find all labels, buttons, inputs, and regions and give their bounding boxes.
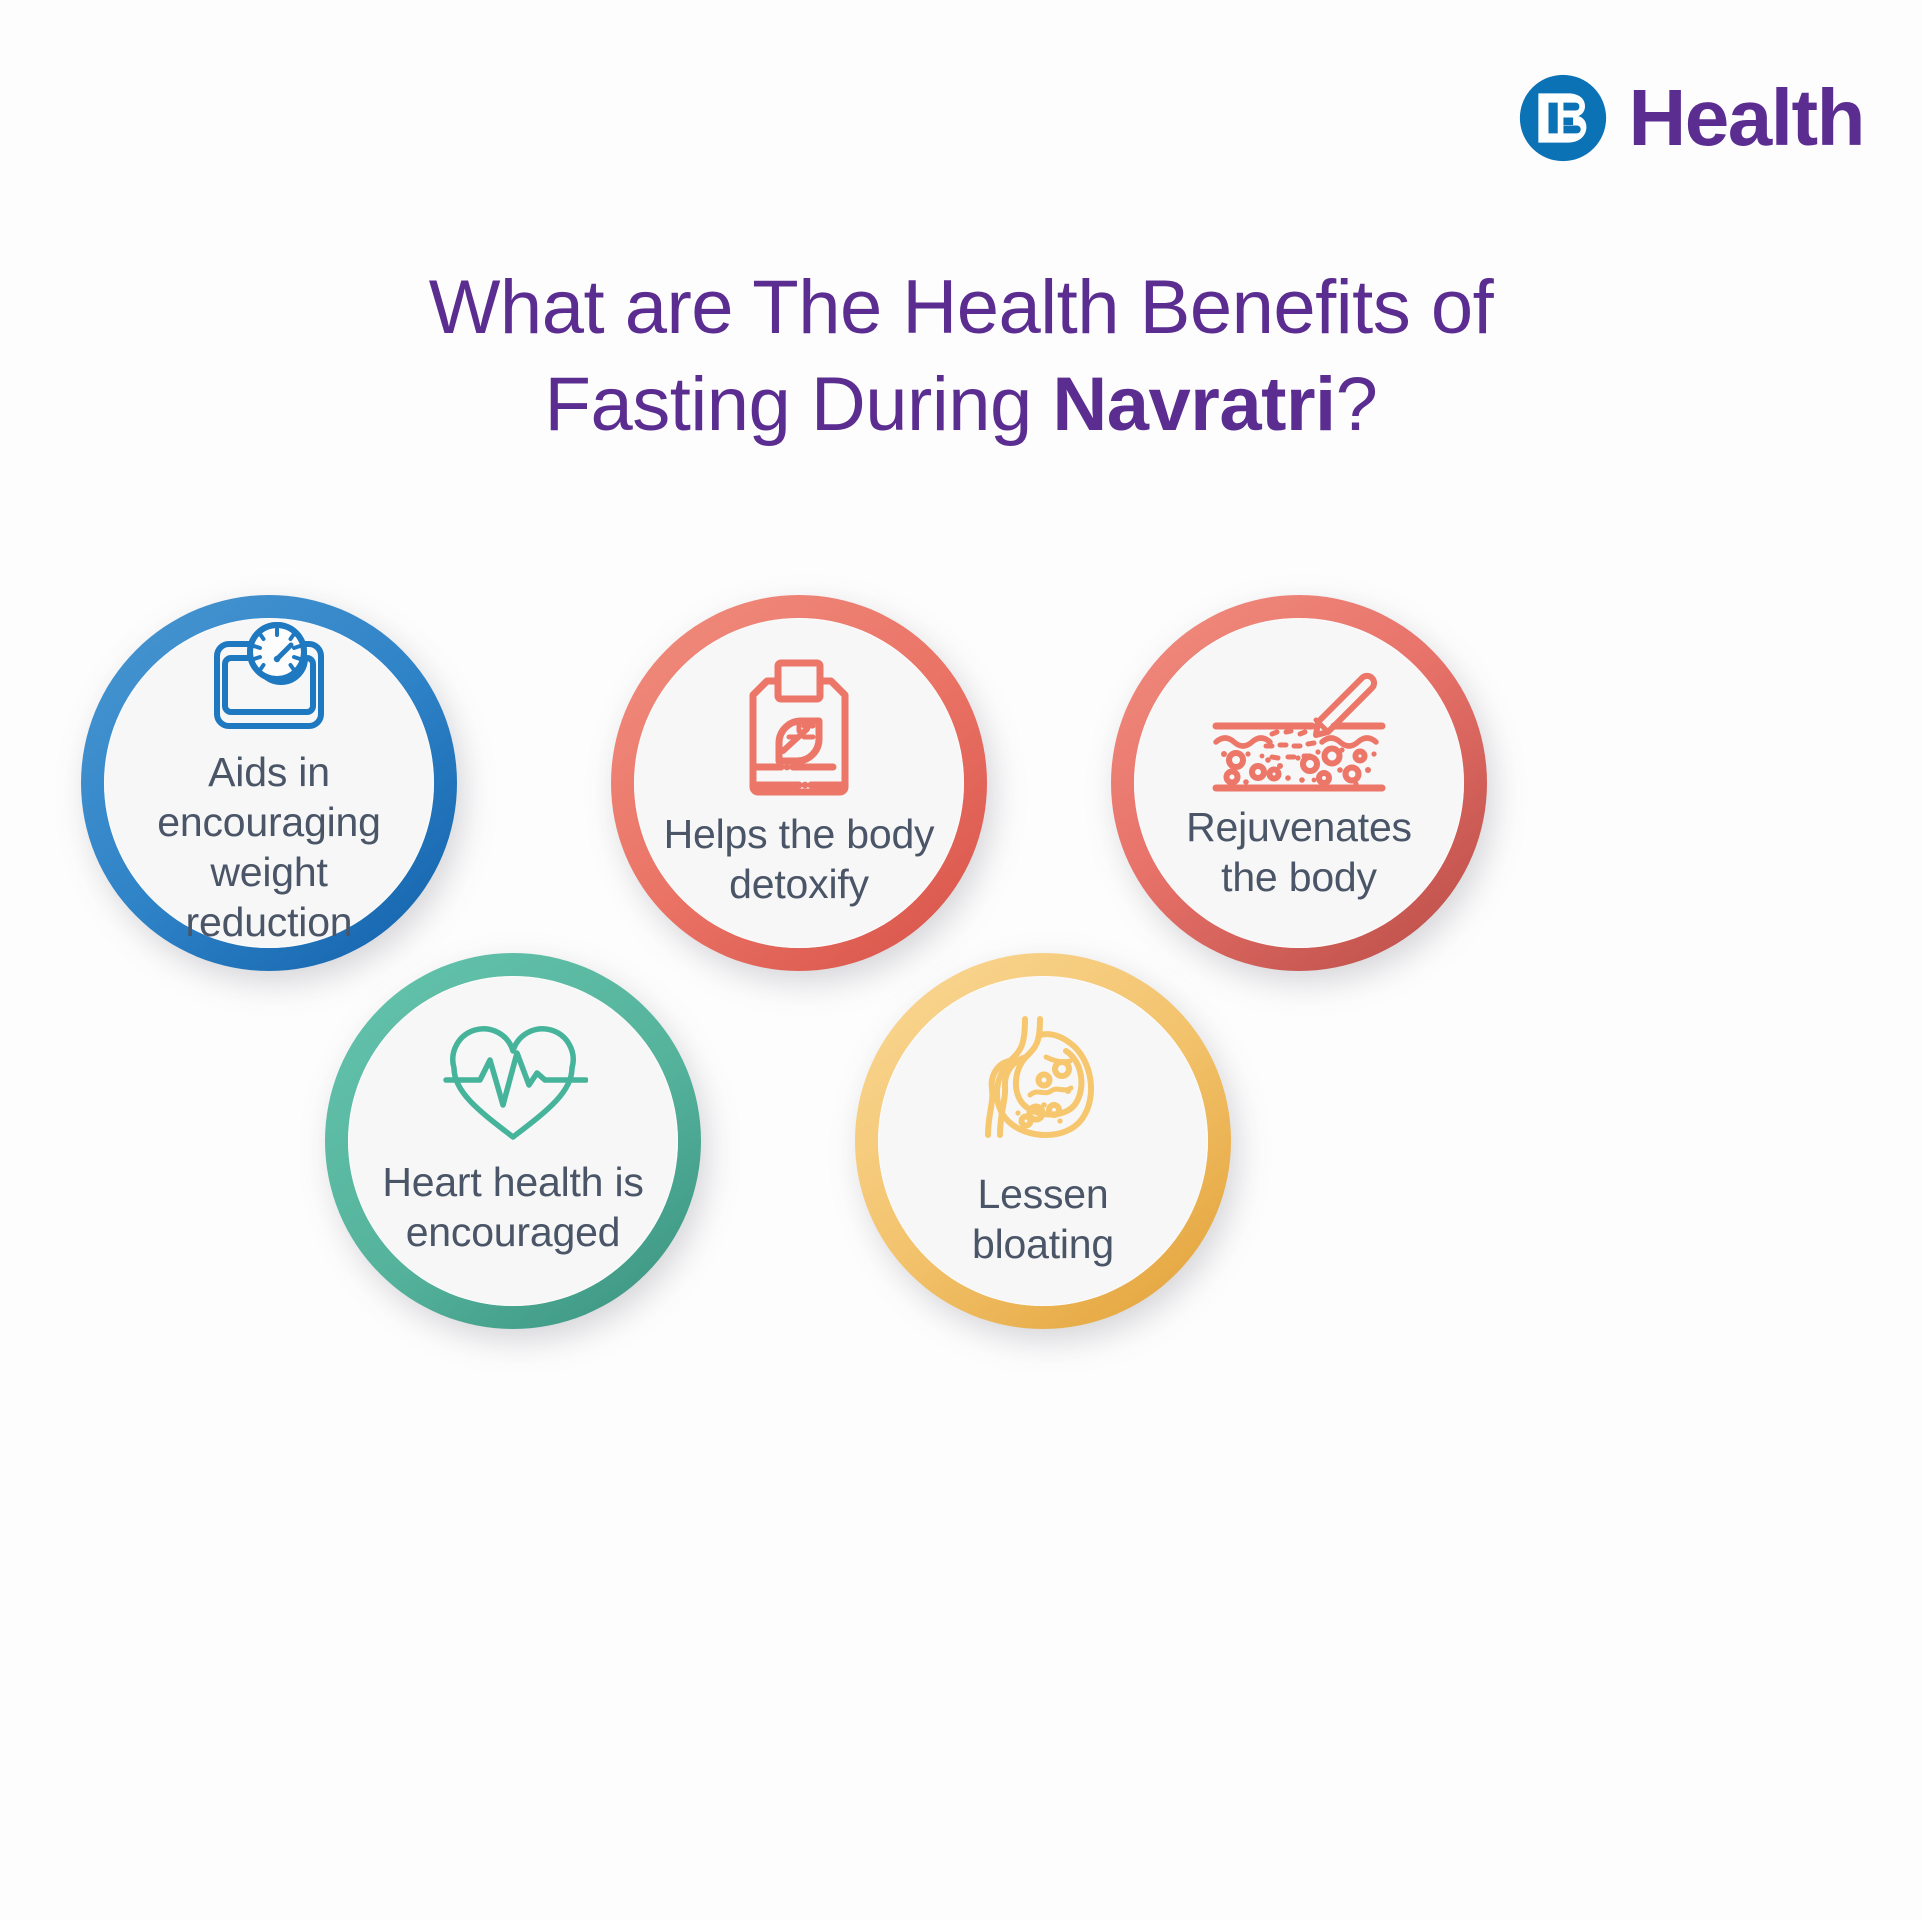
benefit-node-weight[interactable]: Aids in encouraging weight reduction	[78, 592, 460, 974]
benefit-label-heart: Heart health is encouraged	[382, 1157, 643, 1257]
benefit-node-bloating[interactable]: Lessen bloating	[852, 950, 1234, 1332]
benefit-label-bloating: Lessen bloating	[972, 1169, 1114, 1269]
heart-pulse-icon	[438, 1025, 588, 1147]
benefit-label-detox: Helps the body detoxify	[664, 809, 935, 909]
benefit-node-skin[interactable]: Rejuvenates the body	[1108, 592, 1490, 974]
weight-scale-icon	[204, 619, 334, 737]
benefit-label-weight: Aids in encouraging weight reduction	[157, 747, 380, 947]
benefit-node-detox[interactable]: Helps the body detoxify	[608, 592, 990, 974]
detox-bottle-leaf-icon	[741, 657, 857, 799]
skin-rejuvenation-icon	[1210, 664, 1388, 792]
stomach-bloating-icon	[974, 1013, 1112, 1159]
benefits-diagram: Aids in encouraging weight reduction	[0, 0, 1922, 1920]
benefit-node-heart[interactable]: Heart health is encouraged	[322, 950, 704, 1332]
benefit-label-skin: Rejuvenates the body	[1186, 802, 1412, 902]
